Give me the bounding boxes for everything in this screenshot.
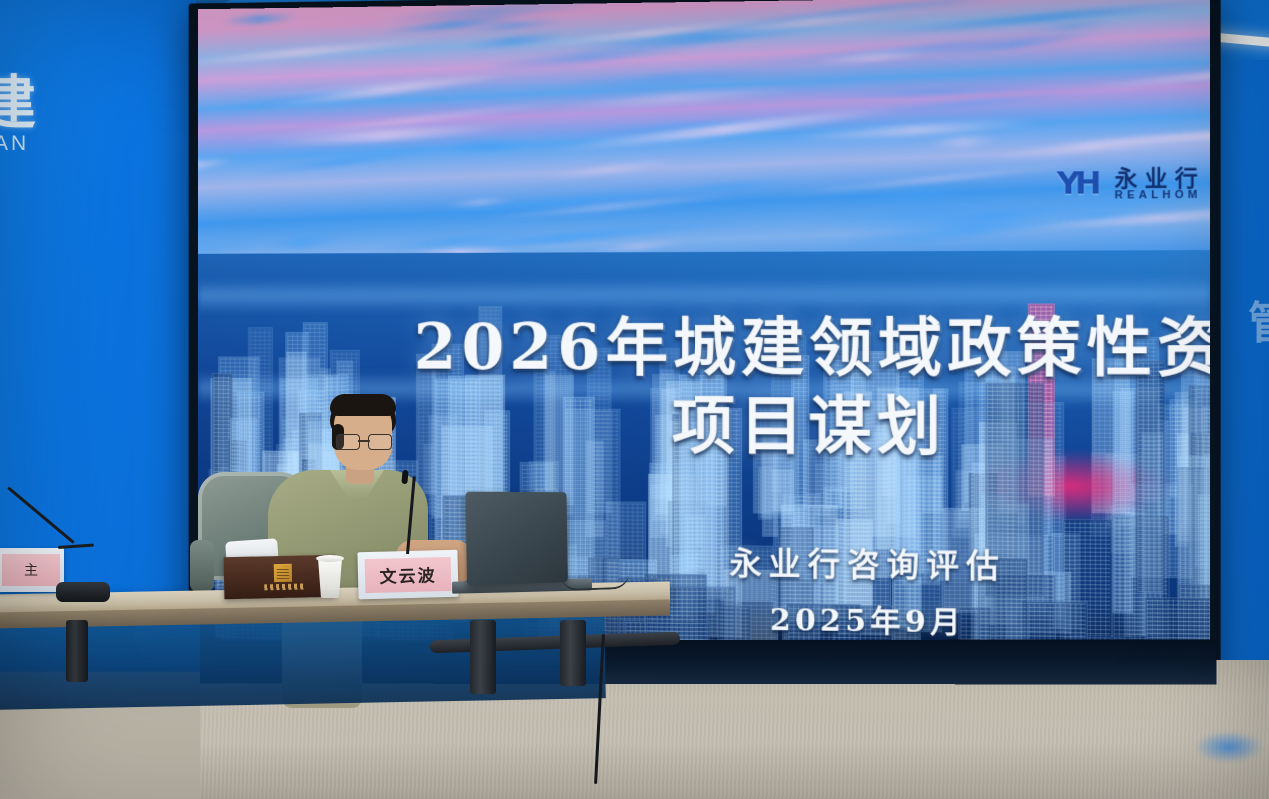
sky-cloud bbox=[925, 134, 1003, 149]
slide-organization: 永业行咨询评估 bbox=[656, 538, 1081, 589]
sky-cloud bbox=[462, 31, 567, 50]
sky-cloud bbox=[257, 70, 520, 111]
desk-leg-right bbox=[560, 620, 586, 686]
desk-front-panel bbox=[0, 612, 606, 710]
slide-footer: 永业行咨询评估 2025年9月 bbox=[656, 538, 1081, 643]
wall-right-logo-glyph: 管 bbox=[1248, 300, 1269, 360]
glasses-lens-right bbox=[368, 434, 392, 450]
person-hair-front bbox=[330, 394, 396, 416]
sky-cloud bbox=[1116, 22, 1210, 50]
yh-logo-icon: YH bbox=[1057, 165, 1104, 196]
sky-cloud bbox=[198, 155, 237, 175]
glasses-icon bbox=[336, 434, 392, 448]
brand-logo: YH 永业行 REALHOM bbox=[1057, 158, 1210, 224]
sky-cloud bbox=[730, 31, 1120, 69]
slide-title-line-1: 2026年城建领域政策性资金争取与 bbox=[414, 309, 1210, 386]
wall-left-logo-text: AN bbox=[0, 132, 29, 156]
paper-cup-rim bbox=[316, 555, 344, 562]
sky-cloud bbox=[674, 0, 948, 41]
sky-cloud bbox=[220, 12, 299, 25]
sky-cloud bbox=[439, 140, 536, 154]
slide-title-line-2: 项目谋划 bbox=[258, 385, 1209, 467]
microphone-base-left[interactable] bbox=[56, 582, 110, 602]
slide-date: 2025年9月 bbox=[656, 594, 1081, 644]
sky-cloud bbox=[535, 156, 686, 182]
screenshot-root: 建 AN 管 2026年城建领域政策性资金争取与项目谋划 永业行咨询评估 202… bbox=[0, 0, 1269, 799]
laptop[interactable] bbox=[465, 492, 568, 586]
chair-armrest bbox=[190, 540, 214, 592]
nameplate-primary: 文云波 bbox=[357, 550, 458, 600]
nameplate-secondary: 主 bbox=[0, 548, 64, 592]
sky-cloud bbox=[1075, 52, 1210, 93]
gift-box-label bbox=[264, 583, 304, 590]
nameplate-secondary-text: 主 bbox=[2, 554, 60, 586]
paper-cup bbox=[318, 558, 342, 598]
sky-cloud bbox=[247, 145, 443, 178]
sky-cloud bbox=[198, 35, 446, 68]
gift-box-emblem-icon bbox=[274, 564, 292, 582]
glasses-lens-left bbox=[336, 434, 360, 450]
floor-blue-reflection bbox=[1196, 732, 1262, 762]
nameplate-primary-text: 文云波 bbox=[365, 556, 452, 592]
logo-name-en: REALHOM bbox=[1115, 189, 1202, 202]
microphone-stand-left bbox=[66, 620, 88, 682]
desk-leg-left bbox=[470, 620, 496, 694]
